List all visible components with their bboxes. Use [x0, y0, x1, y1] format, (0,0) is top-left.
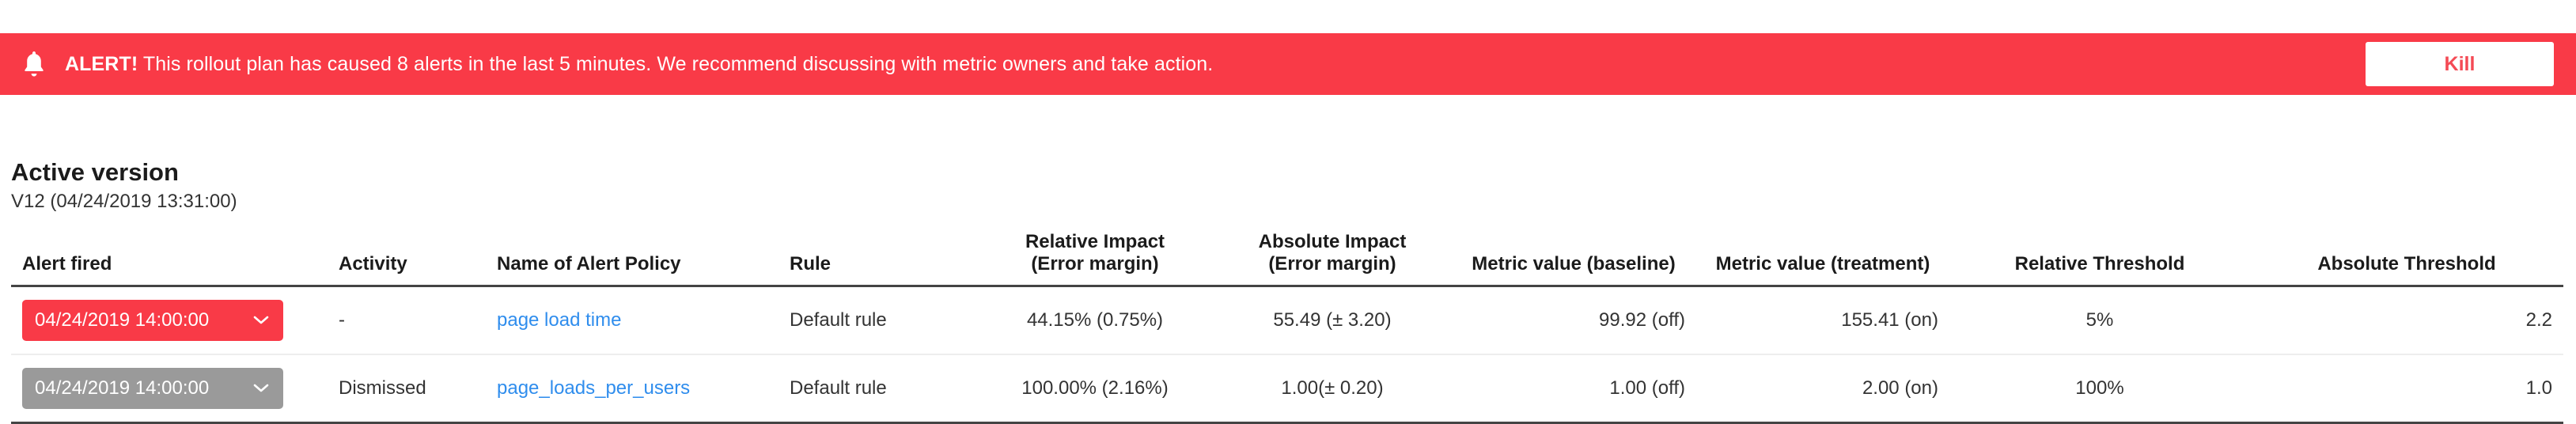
- table-header: Alert fired Activity Name of Alert Polic…: [11, 228, 2563, 286]
- cell-rule: Default rule: [778, 354, 976, 423]
- alert-banner: ALERT! This rollout plan has caused 8 al…: [0, 33, 2576, 95]
- alert-fired-timestamp: 04/24/2019 14:00:00: [35, 309, 209, 331]
- column-header-policy[interactable]: Name of Alert Policy: [486, 228, 778, 286]
- column-header-metric-treatment[interactable]: Metric value (treatment): [1696, 228, 1949, 286]
- cell-rule: Default rule: [778, 286, 976, 355]
- alert-fired-timestamp: 04/24/2019 14:00:00: [35, 377, 209, 399]
- alerts-table: Alert fired Activity Name of Alert Polic…: [11, 228, 2563, 424]
- table-body: 04/24/2019 14:00:00 - page load time Def…: [11, 286, 2563, 423]
- cell-metric-treatment: 2.00 (on): [1696, 354, 1949, 423]
- table-header-row: Alert fired Activity Name of Alert Polic…: [11, 228, 2563, 286]
- kill-button[interactable]: Kill: [2366, 42, 2554, 86]
- cell-absolute-threshold: 2.2: [2250, 286, 2563, 355]
- cell-activity: -: [328, 286, 486, 355]
- column-header-relative-impact[interactable]: Relative Impact (Error margin): [976, 228, 1214, 286]
- alert-fired-dropdown[interactable]: 04/24/2019 14:00:00: [22, 368, 283, 409]
- column-header-metric-baseline[interactable]: Metric value (baseline): [1451, 228, 1696, 286]
- column-header-absolute-impact[interactable]: Absolute Impact (Error margin): [1214, 228, 1451, 286]
- cell-relative-threshold: 100%: [1949, 354, 2250, 423]
- column-header-relative-threshold[interactable]: Relative Threshold: [1949, 228, 2250, 286]
- cell-alert-fired: 04/24/2019 14:00:00: [11, 286, 328, 355]
- version-subtitle: V12 (04/24/2019 13:31:00): [11, 190, 2563, 214]
- column-header-activity[interactable]: Activity: [328, 228, 486, 286]
- cell-relative-impact: 100.00% (2.16%): [976, 354, 1214, 423]
- cell-metric-baseline: 99.92 (off): [1451, 286, 1696, 355]
- column-header-alert-fired[interactable]: Alert fired: [11, 228, 328, 286]
- cell-relative-impact: 44.15% (0.75%): [976, 286, 1214, 355]
- cell-metric-treatment: 155.41 (on): [1696, 286, 1949, 355]
- column-header-absolute-impact-line1: Absolute Impact: [1225, 231, 1440, 253]
- column-header-absolute-impact-line2: (Error margin): [1225, 253, 1440, 275]
- page-title: Active version: [11, 158, 2563, 187]
- cell-policy: page load time: [486, 286, 778, 355]
- alert-fired-dropdown[interactable]: 04/24/2019 14:00:00: [22, 300, 283, 341]
- cell-activity: Dismissed: [328, 354, 486, 423]
- alert-message: ALERT! This rollout plan has caused 8 al…: [65, 52, 2342, 76]
- column-header-absolute-threshold[interactable]: Absolute Threshold: [2250, 228, 2563, 286]
- table-row: 04/24/2019 14:00:00 Dismissed page_loads…: [11, 354, 2563, 423]
- cell-relative-threshold: 5%: [1949, 286, 2250, 355]
- cell-policy: page_loads_per_users: [486, 354, 778, 423]
- column-header-relative-impact-line2: (Error margin): [987, 253, 1203, 275]
- policy-link[interactable]: page load time: [497, 309, 621, 331]
- alert-strong-label: ALERT!: [65, 53, 138, 75]
- cell-absolute-threshold: 1.0: [2250, 354, 2563, 423]
- chevron-down-icon: [253, 316, 269, 325]
- bell-icon: [21, 48, 47, 80]
- cell-absolute-impact: 55.49 (± 3.20): [1214, 286, 1451, 355]
- cell-absolute-impact: 1.00(± 0.20): [1214, 354, 1451, 423]
- main-content: Active version V12 (04/24/2019 13:31:00)…: [0, 95, 2576, 424]
- cell-metric-baseline: 1.00 (off): [1451, 354, 1696, 423]
- column-header-rule[interactable]: Rule: [778, 228, 976, 286]
- cell-alert-fired: 04/24/2019 14:00:00: [11, 354, 328, 423]
- chevron-down-icon: [253, 384, 269, 393]
- alert-message-text: This rollout plan has caused 8 alerts in…: [143, 53, 1213, 75]
- column-header-relative-impact-line1: Relative Impact: [987, 231, 1203, 253]
- table-row: 04/24/2019 14:00:00 - page load time Def…: [11, 286, 2563, 355]
- policy-link[interactable]: page_loads_per_users: [497, 377, 690, 399]
